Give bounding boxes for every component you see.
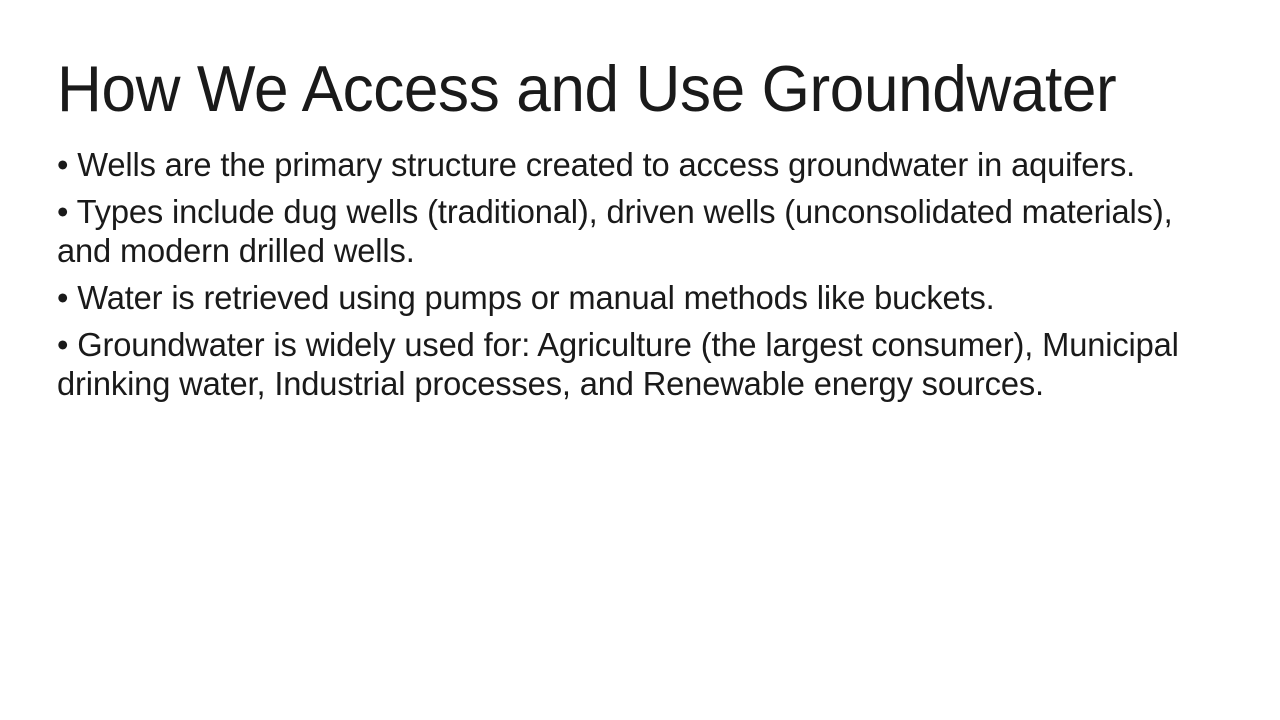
page-title: How We Access and Use Groundwater <box>57 50 1171 128</box>
bullet-marker: • <box>57 280 77 317</box>
bullet-marker: • <box>57 327 77 364</box>
list-item-text: Groundwater is widely used for: Agricult… <box>57 327 1179 403</box>
bullet-marker: • <box>57 194 77 231</box>
list-item: • Water is retrieved using pumps or manu… <box>57 279 1208 318</box>
list-item: • Wells are the primary structure create… <box>57 146 1208 185</box>
list-item-text: Water is retrieved using pumps or manual… <box>77 280 994 317</box>
bullet-list: • Wells are the primary structure create… <box>57 146 1237 404</box>
list-item-text: Wells are the primary structure created … <box>77 147 1135 184</box>
slide-canvas: How We Access and Use Groundwater • Well… <box>0 0 1280 720</box>
list-item: • Groundwater is widely used for: Agricu… <box>57 326 1208 404</box>
list-item-text: Types include dug wells (traditional), d… <box>57 194 1173 270</box>
bullet-marker: • <box>57 147 77 184</box>
list-item: • Types include dug wells (traditional),… <box>57 193 1208 271</box>
